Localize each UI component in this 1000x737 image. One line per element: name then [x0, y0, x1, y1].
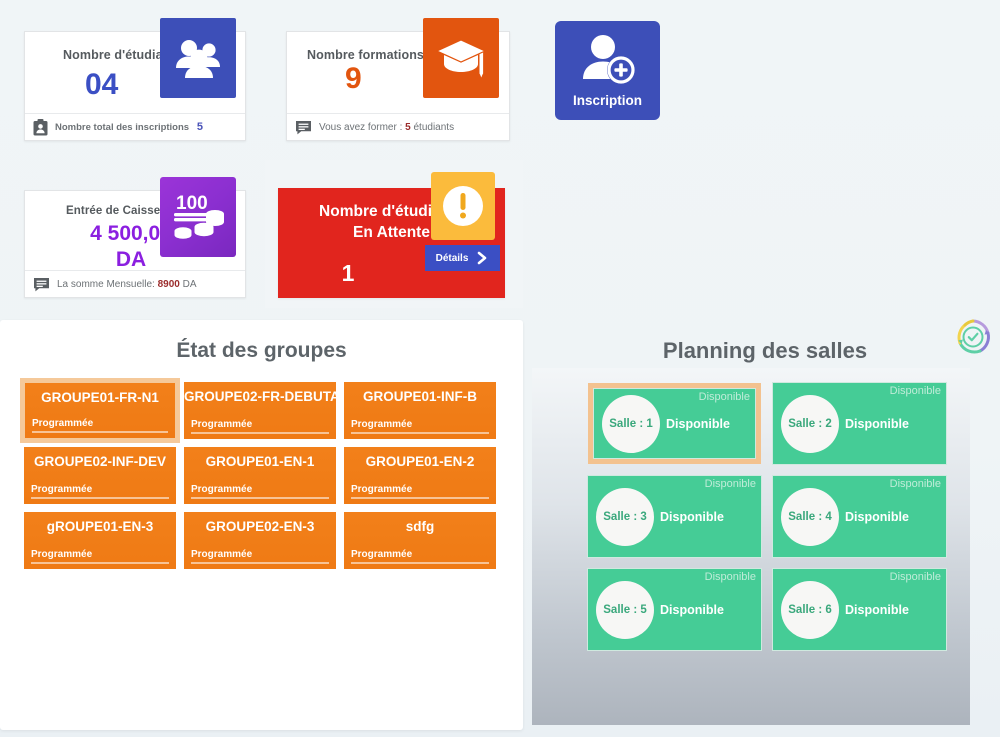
room-card-state-top: Disponible	[699, 391, 750, 403]
groups-grid: GROUPE01-FR-N1ProgramméeGROUPE02-FR-DEBU…	[20, 378, 510, 573]
group-card-underline	[31, 497, 169, 499]
group-card-status: Programmée	[31, 549, 92, 560]
room-card-state-top: Disponible	[890, 478, 941, 490]
group-card-underline	[351, 562, 489, 564]
kpi-footer-value-students: 5	[197, 121, 237, 133]
room-card-state: Disponible	[660, 510, 724, 524]
room-card[interactable]: DisponibleSalle : 3Disponible	[582, 470, 767, 563]
rooms-panel: Planning des salles DisponibleSalle : 1D…	[530, 320, 1000, 725]
rooms-grid: DisponibleSalle : 1DisponibleDisponibleS…	[582, 377, 952, 656]
group-card-name: GROUPE01-EN-2	[344, 454, 496, 469]
room-card[interactable]: DisponibleSalle : 1Disponible	[582, 377, 767, 470]
group-card-underline	[191, 497, 329, 499]
room-card[interactable]: DisponibleSalle : 2Disponible	[767, 377, 952, 470]
group-card[interactable]: GROUPE01-INF-BProgrammée	[340, 378, 500, 443]
groups-panel: État des groupes GROUPE01-FR-N1Programmé…	[0, 320, 523, 730]
group-card-underline	[351, 497, 489, 499]
inscription-button[interactable]: Inscription	[555, 21, 660, 120]
svg-text:100: 100	[176, 193, 208, 214]
group-card[interactable]: GROUPE01-FR-N1Programmée	[20, 378, 180, 443]
dashboard-page: Nombre d'étudiants 04 Nombre total des i…	[0, 0, 1000, 737]
kpi-footer-students: Nombre total des inscriptions 5	[25, 113, 245, 140]
room-card-state: Disponible	[660, 603, 724, 617]
group-card-status: Programmée	[351, 549, 412, 560]
room-card-state: Disponible	[845, 510, 909, 524]
group-card[interactable]: sdfgProgrammée	[340, 508, 500, 573]
group-card-name: GROUPE01-FR-N1	[25, 390, 175, 405]
group-card-status: Programmée	[191, 419, 252, 430]
group-card-status: Programmée	[191, 549, 252, 560]
kpi-footer-caisse: La somme Mensuelle: 8900 DA	[25, 270, 245, 297]
group-card[interactable]: GROUPE01-EN-1Programmée	[180, 443, 340, 508]
room-card-name: Salle : 1	[602, 418, 660, 430]
group-card-underline	[191, 562, 329, 564]
room-card-state-top: Disponible	[890, 385, 941, 397]
room-card-state-top: Disponible	[890, 571, 941, 583]
group-card-status: Programmée	[32, 418, 93, 429]
group-card-status: Programmée	[351, 419, 412, 430]
kpi-footer-label-caisse: La somme Mensuelle: 8900 DA	[57, 279, 197, 290]
room-card[interactable]: DisponibleSalle : 5Disponible	[582, 563, 767, 656]
group-card-name: sdfg	[344, 519, 496, 534]
group-card[interactable]: GROUPE01-EN-2Programmée	[340, 443, 500, 508]
rooms-panel-title: Planning des salles	[530, 338, 1000, 364]
graduation-cap-icon	[423, 18, 499, 98]
group-card-name: GROUPE01-EN-1	[184, 454, 336, 469]
group-card[interactable]: gROUPE01-EN-3Programmée	[20, 508, 180, 573]
group-card-underline	[31, 562, 169, 564]
group-card[interactable]: GROUPE02-EN-3Programmée	[180, 508, 340, 573]
room-card-state-top: Disponible	[705, 571, 756, 583]
group-card-name: GROUPE02-FR-DEBUTANT	[184, 389, 336, 404]
room-card-name: Salle : 6	[781, 604, 839, 616]
group-card-underline	[32, 431, 168, 433]
group-card-name: GROUPE01-INF-B	[344, 389, 496, 404]
group-card[interactable]: GROUPE02-INF-DEVProgrammée	[20, 443, 180, 508]
speech-bubble-icon	[33, 277, 50, 292]
room-card[interactable]: DisponibleSalle : 4Disponible	[767, 470, 952, 563]
speech-bubble-icon	[295, 120, 312, 135]
group-card-status: Programmée	[191, 484, 252, 495]
group-card-underline	[351, 432, 489, 434]
room-card-name: Salle : 2	[781, 418, 839, 430]
users-group-icon	[160, 18, 236, 98]
group-card-name: GROUPE02-INF-DEV	[24, 454, 176, 469]
room-card-state: Disponible	[845, 603, 909, 617]
group-card[interactable]: GROUPE02-FR-DEBUTANTProgrammée	[180, 378, 340, 443]
room-card[interactable]: DisponibleSalle : 6Disponible	[767, 563, 952, 656]
user-add-icon	[577, 31, 639, 91]
money-coins-icon: 100	[160, 177, 236, 257]
details-button-label: Détails	[436, 253, 469, 264]
clipboard-person-icon	[33, 119, 48, 136]
kpi-footer-formations: Vous avez former : 5 étudiants	[287, 113, 509, 140]
groups-panel-title: État des groupes	[0, 339, 523, 363]
kpi-title-caisse: Entrée de Caisse	[66, 205, 160, 217]
kpi-value-waiting: 1	[324, 260, 372, 287]
kpi-title-formations: Nombre formations	[307, 48, 424, 62]
kpi-footer-label-students: Nombre total des inscriptions	[55, 122, 189, 133]
inscription-label: Inscription	[573, 93, 642, 108]
chevron-right-icon	[475, 251, 489, 265]
room-card-state: Disponible	[845, 417, 909, 431]
room-card-name: Salle : 3	[596, 511, 654, 523]
room-card-state: Disponible	[666, 417, 730, 431]
room-card-name: Salle : 5	[596, 604, 654, 616]
warning-exclamation-icon	[431, 172, 495, 240]
sync-check-icon[interactable]	[952, 316, 994, 358]
group-card-name: gROUPE01-EN-3	[24, 519, 176, 534]
kpi-value-students: 04	[85, 70, 118, 100]
group-card-status: Programmée	[351, 484, 412, 495]
kpi-footer-label-formations: Vous avez former : 5 étudiants	[319, 122, 454, 133]
group-card-name: GROUPE02-EN-3	[184, 519, 336, 534]
room-card-name: Salle : 4	[781, 511, 839, 523]
kpi-value-formations: 9	[345, 64, 362, 94]
room-card-state-top: Disponible	[705, 478, 756, 490]
group-card-status: Programmée	[31, 484, 92, 495]
details-button[interactable]: Détails	[425, 245, 500, 271]
group-card-underline	[191, 432, 329, 434]
